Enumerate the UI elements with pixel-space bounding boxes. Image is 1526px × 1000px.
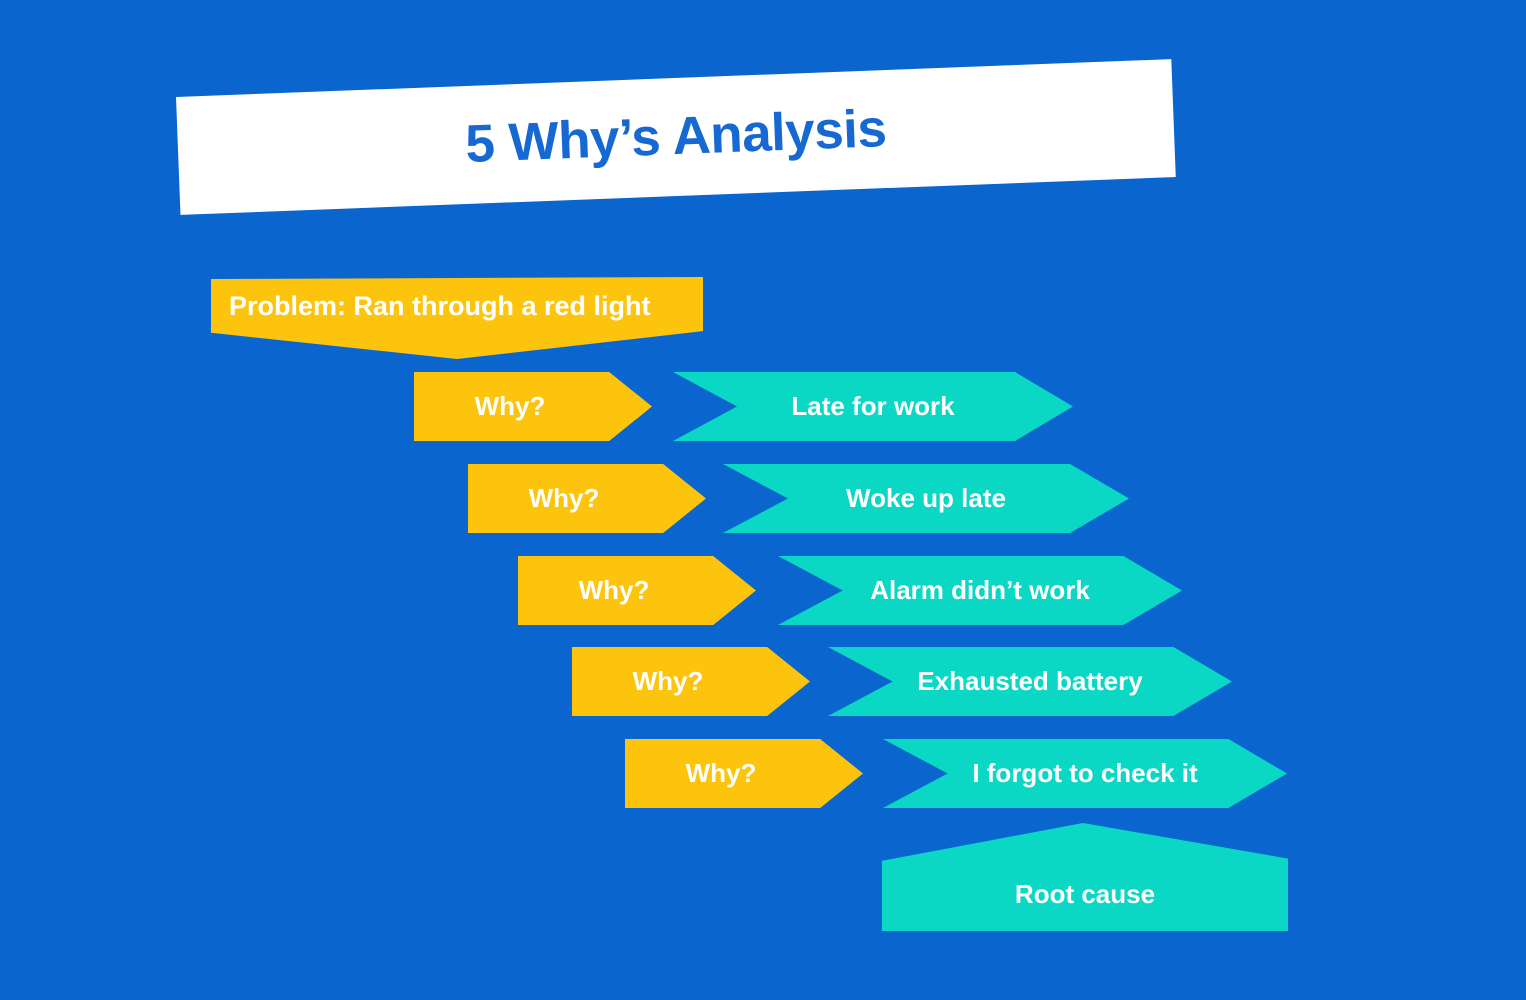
answer-label-5: I forgot to check it [883, 739, 1287, 808]
why-label-3: Why? [518, 556, 756, 625]
answer-label-4: Exhausted battery [828, 647, 1232, 716]
why-label-5: Why? [625, 739, 863, 808]
why-label-1: Why? [414, 372, 652, 441]
root-cause-label: Root cause [882, 858, 1288, 931]
problem-statement-label: Problem: Ran through a red light [211, 277, 703, 335]
answer-label-1: Late for work [673, 372, 1073, 441]
answer-label-3: Alarm didn’t work [778, 556, 1182, 625]
page-title: 5 Why’s Analysis [176, 58, 1176, 214]
why-label-4: Why? [572, 647, 810, 716]
answer-label-2: Woke up late [723, 464, 1129, 533]
five-whys-diagram: 5 Why’s Analysis Problem: Ran through a … [0, 0, 1526, 1000]
why-label-2: Why? [468, 464, 706, 533]
